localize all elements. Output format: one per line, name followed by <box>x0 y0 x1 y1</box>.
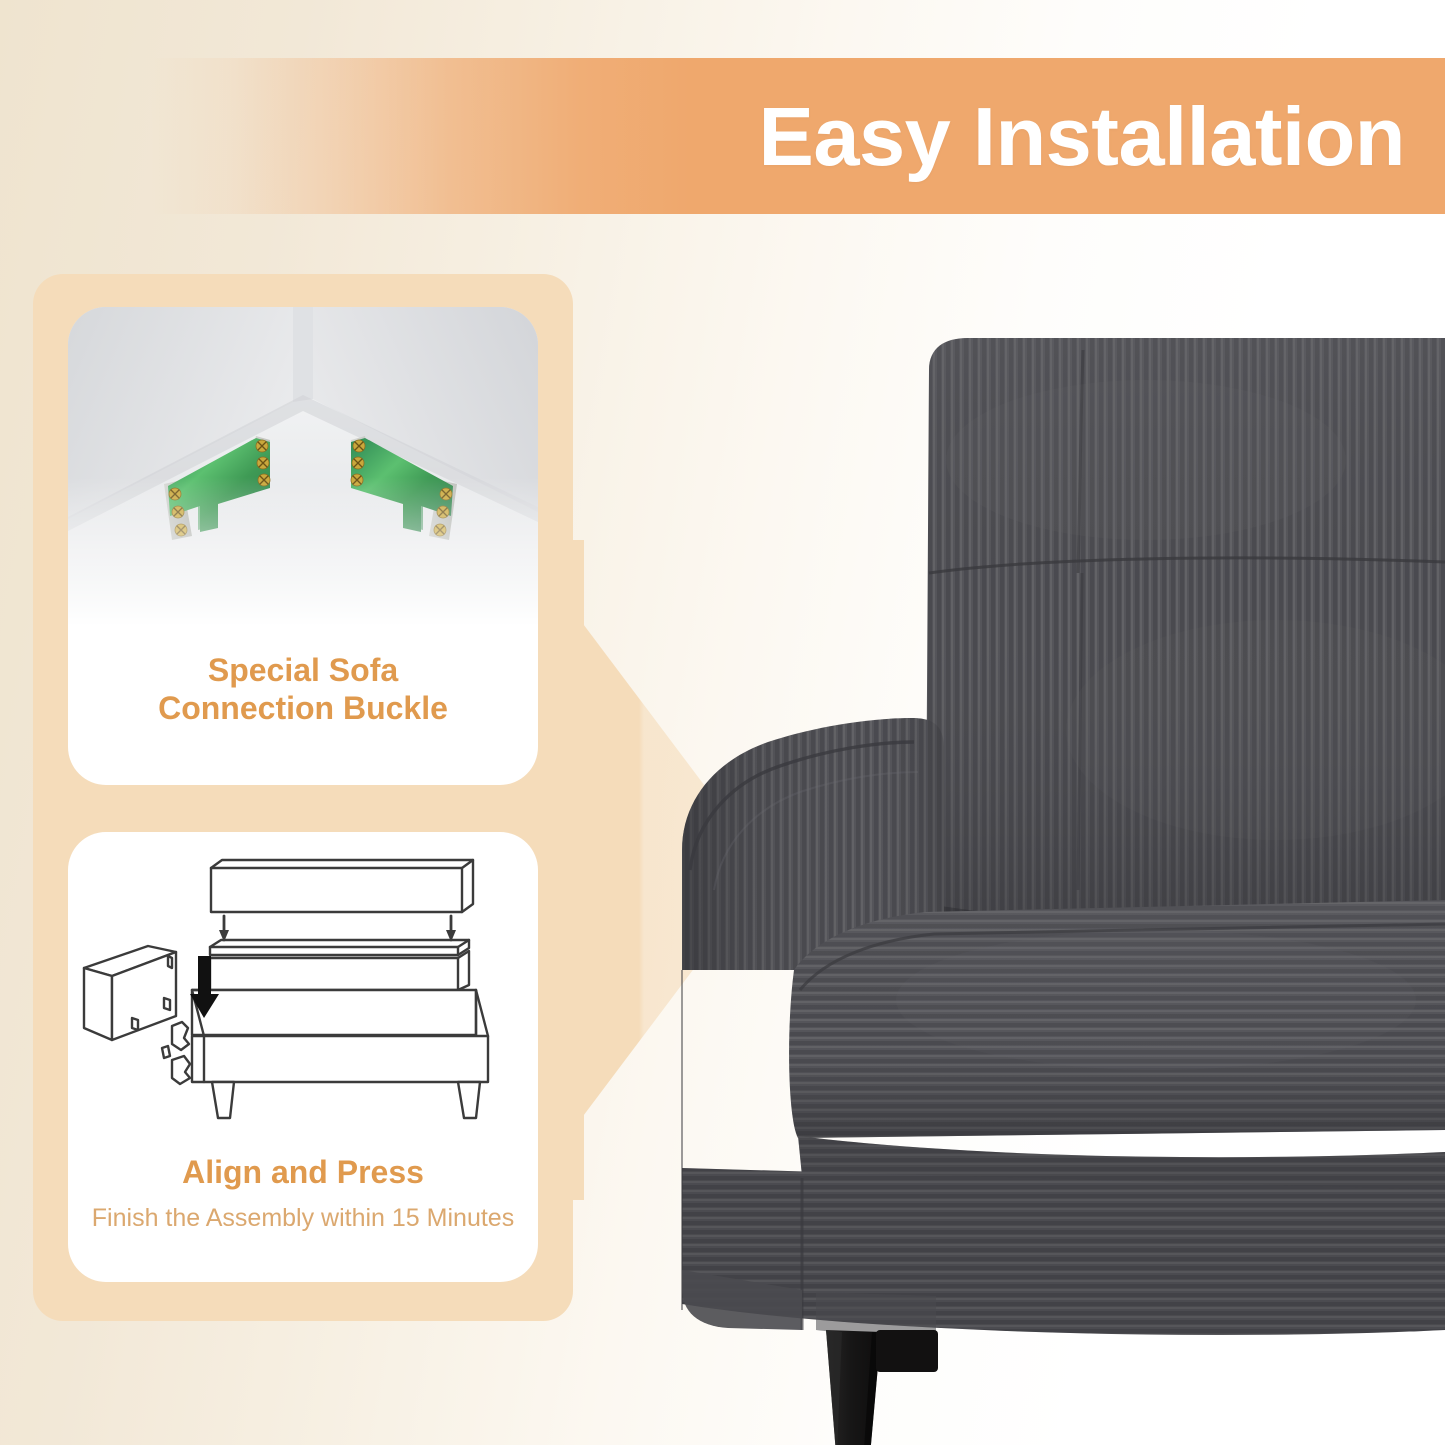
card-subcaption-align: Finish the Assembly within 15 Minutes <box>68 1204 538 1233</box>
sofa-product-photo <box>676 330 1445 1445</box>
sofa-back-cushion <box>926 338 1445 950</box>
card-caption-buckle: Special Sofa Connection Buckle <box>68 652 538 728</box>
feature-card-connection-buckle[interactable]: Special Sofa Connection Buckle <box>68 307 538 785</box>
product-feature-image: Easy Installation <box>0 0 1445 1445</box>
buckle-photo <box>68 307 538 637</box>
card-caption-align: Align and Press <box>68 1154 538 1192</box>
feature-card-align-and-press[interactable]: Align and Press Finish the Assembly with… <box>68 832 538 1282</box>
caption-line-2: Connection Buckle <box>68 690 538 728</box>
caption-line-1: Align and Press <box>68 1154 538 1192</box>
page-title: Easy Installation <box>0 58 1405 214</box>
sofa-legs <box>826 1330 938 1445</box>
caption-line-1: Special Sofa <box>68 652 538 690</box>
photo-bottom-fade <box>68 477 538 639</box>
assembly-diagram-icon <box>76 850 531 1140</box>
